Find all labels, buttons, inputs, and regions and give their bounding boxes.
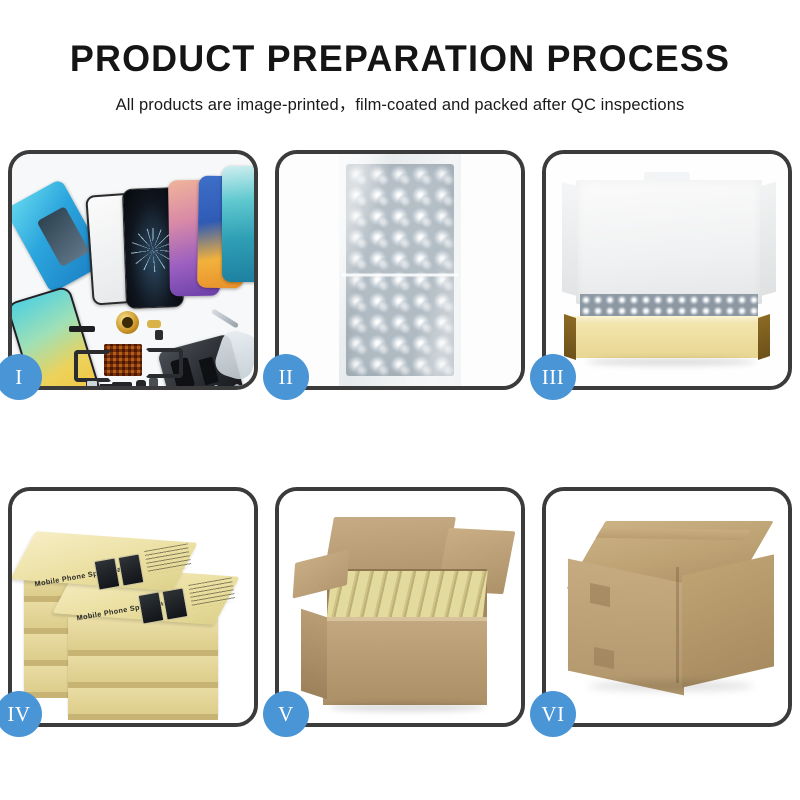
sim-tray-icon <box>86 380 98 386</box>
flex-cable-icon <box>69 326 95 332</box>
wrap-highlight <box>339 154 461 386</box>
sealed-carton-image <box>546 491 788 723</box>
box-front <box>572 322 768 358</box>
bubble-wrap-image <box>279 154 521 386</box>
step-badge-1: I <box>0 354 42 400</box>
carton-side <box>301 609 327 699</box>
carton-flap-tab <box>590 583 610 607</box>
open-carton-image <box>279 491 521 723</box>
boxed-item-image <box>546 154 788 386</box>
speaker-coil-icon <box>116 311 139 334</box>
carton-shadow <box>588 681 754 691</box>
carton-right-side <box>682 554 774 687</box>
box-stack: Mobile Phone Spare Parts Mobile Phone Sp… <box>18 509 254 719</box>
step-badge-4: IV <box>0 691 42 737</box>
process-steps-grid: I II III <box>8 150 792 727</box>
step-badge-2: II <box>263 354 309 400</box>
step-badge-5: V <box>263 691 309 737</box>
part-icon-2 <box>136 380 146 386</box>
screwdriver-icon <box>211 308 239 328</box>
page-title: PRODUCT PREPARATION PROCESS <box>12 36 788 82</box>
carton-front <box>568 559 684 696</box>
page-subtitle: All products are image-printed，film-coat… <box>0 91 800 115</box>
right-flex-icon <box>145 348 183 378</box>
box-left-tab <box>564 314 576 360</box>
step-panel-2: II <box>275 150 525 390</box>
step-panel-3: III <box>542 150 792 390</box>
header: PRODUCT PREPARATION PROCESS All products… <box>0 0 800 115</box>
small-part-icon <box>155 330 163 340</box>
part-icon-4 <box>100 384 112 386</box>
part-icon-3 <box>149 378 158 386</box>
carton-front <box>323 621 487 705</box>
sealed-carton <box>564 521 778 703</box>
phone-parts-image <box>12 154 254 386</box>
part-icon-1 <box>112 382 132 386</box>
step-panel-5: V <box>275 487 525 727</box>
screws-icon <box>212 384 242 386</box>
step-badge-6: VI <box>530 691 576 737</box>
left-flex-icon <box>74 350 112 382</box>
carton-shadow <box>329 703 485 712</box>
step-badge-3: III <box>530 354 576 400</box>
product-preparation-infographic: PRODUCT PREPARATION PROCESS All products… <box>0 0 800 800</box>
gold-connector-icon <box>147 320 161 328</box>
wrap-seam <box>342 273 458 276</box>
teal-phone-icon <box>222 166 254 282</box>
box-lid <box>576 180 762 304</box>
stacked-boxes-image: Mobile Phone Spare Parts Mobile Phone Sp… <box>12 491 254 723</box>
step-panel-1: I <box>8 150 258 390</box>
step-panel-4: Mobile Phone Spare Parts Mobile Phone Sp… <box>8 487 258 727</box>
box-right-tab <box>758 314 770 360</box>
step-panel-6: VI <box>542 487 792 727</box>
open-carton <box>293 517 515 709</box>
carton-seam <box>676 567 679 684</box>
box-shadow <box>586 358 756 366</box>
packed-yellow-boxes <box>326 571 487 623</box>
